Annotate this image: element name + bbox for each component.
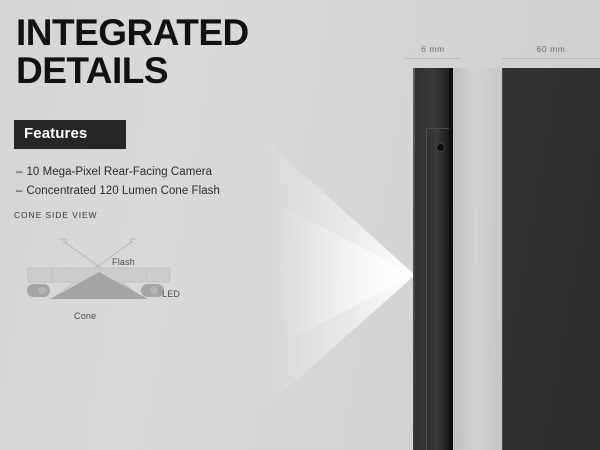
cone-side-view-caption: CONE SIDE VIEW (14, 210, 214, 220)
device-gap-shadow (452, 68, 502, 450)
cone-side-view-diagram: CONE SIDE VIEW Flash LED Cone (14, 210, 214, 325)
measurement-thickness: 6 mm (405, 44, 461, 59)
list-item: –10 Mega-Pixel Rear-Facing Camera (16, 163, 296, 182)
device-edge-highlight (413, 68, 415, 450)
device-edge-inset-plate (426, 128, 449, 450)
device-face-highlight (502, 68, 503, 450)
camera-lens-dot (437, 144, 444, 151)
features-tag-label: Features (24, 125, 87, 142)
features-list: –10 Mega-Pixel Rear-Facing Camera –Conce… (16, 163, 296, 201)
device-face-view (502, 68, 600, 450)
list-item: –Concentrated 120 Lumen Cone Flash (16, 182, 296, 201)
list-item-text: 10 Mega-Pixel Rear-Facing Camera (26, 166, 212, 178)
bullet-dash: – (16, 185, 22, 197)
device-edge-rail (449, 68, 453, 450)
title-line-1: INTEGRATED (16, 14, 346, 52)
measurement-width: 60 mm (502, 44, 600, 59)
measurement-width-value: 60 mm (502, 44, 600, 54)
measurement-width-rule (502, 58, 600, 59)
bullet-dash: – (16, 166, 22, 178)
diagram-label-led: LED (162, 289, 180, 299)
cone-diagram-graphic (14, 224, 214, 324)
slide-canvas: INTEGRATED DETAILS Features –10 Mega-Pix… (0, 0, 600, 450)
measurement-thickness-value: 6 mm (405, 44, 461, 54)
list-item-text: Concentrated 120 Lumen Cone Flash (26, 185, 219, 197)
measurement-thickness-rule (405, 58, 461, 59)
diagram-label-cone: Cone (74, 311, 96, 321)
title-line-2: DETAILS (16, 52, 346, 90)
device-edge-view (413, 68, 452, 450)
diagram-label-flash: Flash (112, 257, 135, 267)
features-tag: Features (14, 120, 126, 149)
page-title: INTEGRATED DETAILS (16, 14, 346, 90)
